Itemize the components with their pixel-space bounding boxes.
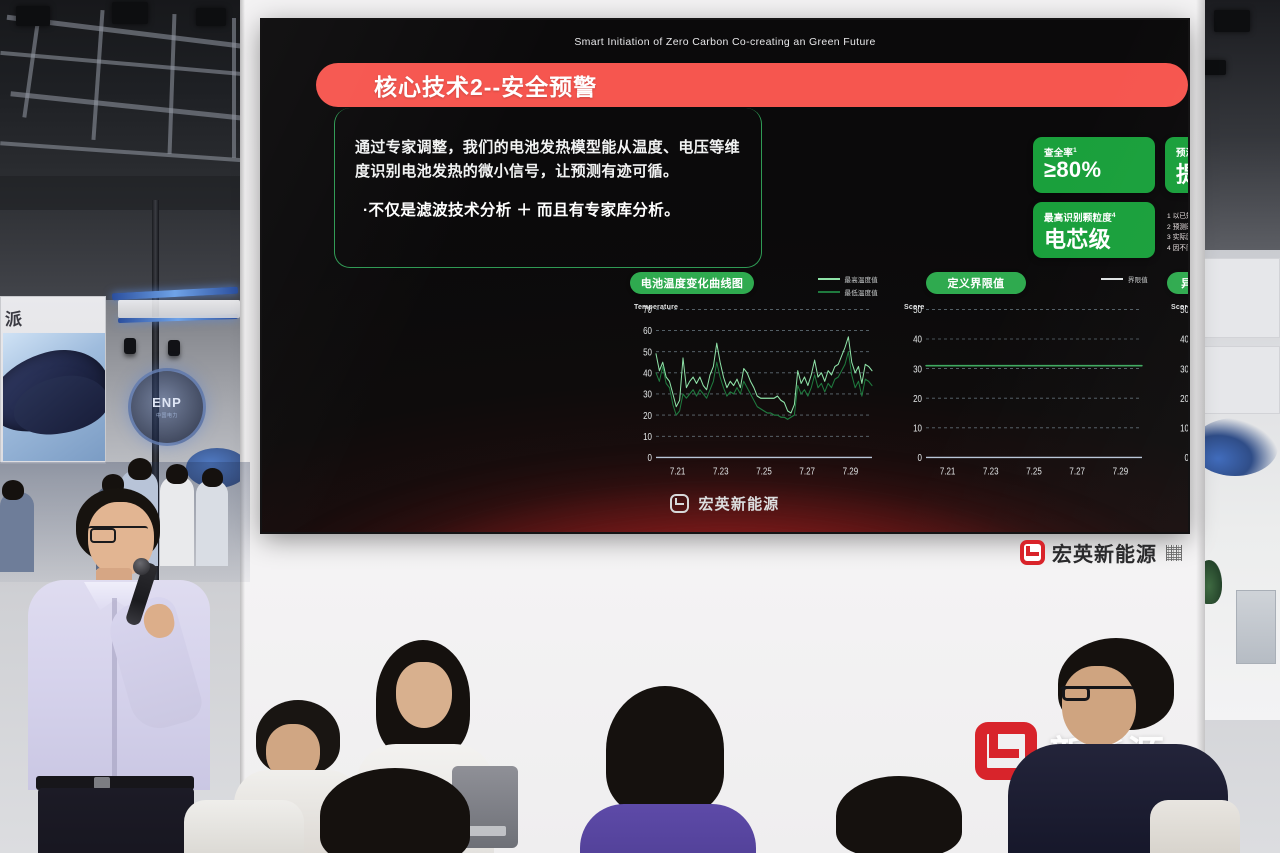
chart-panel-threshold: 定义界限值 界限值 Score 010203040507.217.237.257…: [900, 272, 1148, 487]
svg-text:30: 30: [1180, 364, 1188, 375]
svg-text:50: 50: [913, 304, 922, 315]
svg-text:40: 40: [1180, 334, 1188, 345]
exhibition-photo-scene: 派 ENP 中国电力 Smart Initiation of Zero Carb…: [0, 0, 1280, 853]
audience-hair: [320, 768, 470, 853]
slide-body-paragraph: 通过专家调整，我们的电池发热模型能从温度、电压等维度识别电池发热的微小信号，让预…: [355, 136, 749, 184]
footnote-4: 4 因不同电池包制造规格和数据质量而有不同。: [1167, 244, 1188, 255]
svg-text:7.25: 7.25: [1026, 466, 1042, 477]
legend-swatch: [818, 278, 840, 280]
audience-member: [1150, 800, 1240, 853]
chart-panel-anomaly: 异常识别预测图 界限值 Score 01020304050: [1167, 272, 1188, 487]
chart-legend-temperature: 最高温度值 最低温度值: [818, 274, 879, 297]
slide-body-bullet: ·不仅是滤波技术分析 ＋ 而且有专家库分析。: [363, 200, 755, 222]
qr-code-icon: [1166, 545, 1182, 561]
glasses-icon: [88, 526, 148, 537]
svg-text:60: 60: [643, 325, 652, 336]
right-booth-panel: [1196, 258, 1280, 338]
legend-label: 界限值: [1128, 274, 1148, 284]
svg-text:10: 10: [1180, 423, 1188, 434]
chart-title-anomaly: 异常识别预测图: [1167, 272, 1188, 294]
left-booth-display: [3, 333, 105, 461]
svg-text:7.27: 7.27: [799, 466, 815, 477]
truss-strut: [232, 18, 236, 158]
glasses-lens-icon: [1062, 686, 1090, 701]
svg-text:50: 50: [643, 347, 652, 358]
chart-legend-threshold: 界限值: [1101, 274, 1148, 284]
stat-card-value: 提前7天: [1176, 157, 1188, 189]
background-person-head: [166, 464, 188, 484]
svg-text:0: 0: [918, 452, 922, 463]
stage-light: [16, 6, 50, 26]
stat-card-value: 电芯级: [1044, 222, 1111, 254]
legend-swatch: [818, 291, 840, 293]
presenter: [24, 488, 210, 853]
hongying-logo-icon: [1020, 540, 1045, 565]
chart-title-temperature: 电池温度变化曲线图: [630, 272, 754, 294]
svg-text:7.25: 7.25: [756, 466, 772, 477]
legend-label: 最高温度值: [845, 274, 879, 284]
audience-face: [396, 662, 452, 728]
svg-text:10: 10: [643, 431, 652, 442]
svg-text:0: 0: [648, 452, 652, 463]
stage-light: [112, 2, 148, 24]
legend-label: 最低温度值: [845, 287, 879, 297]
wall-brand-logo: 宏英新能源: [1020, 538, 1182, 567]
booth-shelf: [118, 300, 240, 318]
presenter-trousers: [38, 788, 194, 853]
truss-shadow: [0, 176, 260, 210]
wall-brand-name: 宏英新能源: [1052, 538, 1157, 567]
stat-card-granularity: 最高识别颗粒度4 电芯级: [1033, 202, 1155, 258]
slide-subheadline: Smart Initiation of Zero Carbon Co-creat…: [262, 36, 1188, 48]
svg-text:30: 30: [913, 364, 922, 375]
slide-description-box: 通过专家调整，我们的电池发热模型能从温度、电压等维度识别电池发热的微小信号，让预…: [334, 108, 762, 268]
hongying-logo-icon: [670, 494, 689, 513]
svg-text:7.29: 7.29: [1113, 466, 1129, 477]
slide-title-text: 核心技术2--安全预警: [374, 68, 597, 102]
left-booth-panel: 派: [0, 296, 106, 464]
spotlight: [124, 338, 136, 354]
chart-panel-temperature: 电池温度变化曲线图 最高温度值 最低温度值 Temperature 010203…: [630, 272, 878, 487]
slide-brand-logo: 宏英新能源: [262, 493, 1188, 514]
chart-plot-temperature: 0102030405060707.217.237.257.277.29: [630, 302, 878, 487]
wall-edge-right: [1196, 0, 1205, 853]
slide-title-banner: 核心技术2--安全预警: [316, 63, 1188, 107]
svg-text:10: 10: [913, 423, 922, 434]
svg-text:70: 70: [643, 304, 652, 315]
footnote-1: 1 以已知的故障类型为基础，实际因场景和电池材料不同有区别 。: [1167, 212, 1188, 223]
svg-text:30: 30: [643, 389, 652, 400]
right-booth-panel: [1196, 346, 1280, 414]
stat-card-prediction-time: 预测时间2 提前7天: [1165, 137, 1188, 193]
chart-title-threshold: 定义界限值: [926, 272, 1026, 294]
enp-logo-subtext: 中国电力: [156, 412, 178, 419]
enp-logo-icon: ENP 中国电力: [128, 368, 206, 446]
svg-text:40: 40: [913, 334, 922, 345]
audience-hair: [836, 776, 962, 853]
background-person-head: [2, 480, 24, 500]
svg-text:40: 40: [643, 368, 652, 379]
stage-light: [1214, 10, 1250, 32]
svg-text:7.29: 7.29: [843, 466, 859, 477]
chart-plot-threshold: 010203040507.217.237.257.277.29: [900, 302, 1148, 487]
svg-text:50: 50: [1180, 304, 1188, 315]
stage-light: [196, 8, 226, 26]
svg-text:20: 20: [913, 393, 922, 404]
right-booth-cabinet: [1236, 590, 1276, 664]
wall-edge-left: [240, 0, 245, 853]
footnote-3: 3 实际因每块电池的使用场景不同而有差异。: [1167, 233, 1188, 244]
audience-top: [580, 804, 756, 853]
svg-text:20: 20: [643, 410, 652, 421]
svg-text:7.21: 7.21: [670, 466, 686, 477]
footnote-2: 2 预测时间范围可依据需求调整，以实际结果为准。: [1167, 223, 1188, 234]
slide-footnotes: 1 以已知的故障类型为基础，实际因场景和电池材料不同有区别 。 2 预测时间范围…: [1167, 212, 1188, 254]
svg-text:20: 20: [1180, 393, 1188, 404]
enp-logo-text: ENP: [152, 395, 182, 410]
left-booth-brand: 派: [5, 305, 22, 330]
handbag-label: [464, 826, 506, 836]
slide-canvas: Smart Initiation of Zero Carbon Co-creat…: [262, 20, 1188, 532]
background-person-head: [128, 458, 152, 480]
presentation-screen: Smart Initiation of Zero Carbon Co-creat…: [262, 20, 1188, 532]
stat-card-value: ≥80%: [1044, 157, 1101, 183]
svg-text:7.21: 7.21: [940, 466, 956, 477]
svg-text:7.23: 7.23: [713, 466, 729, 477]
audience-member: [184, 800, 304, 853]
audience-face: [1062, 666, 1136, 746]
svg-text:7.23: 7.23: [983, 466, 999, 477]
svg-text:7.27: 7.27: [1069, 466, 1085, 477]
svg-text:0: 0: [1185, 452, 1188, 463]
stat-card-recall: 查全率1 ≥80%: [1033, 137, 1155, 193]
legend-swatch: [1101, 278, 1123, 280]
slide-brand-name: 宏英新能源: [698, 493, 779, 514]
spotlight: [168, 340, 180, 356]
audience-hair: [606, 686, 724, 814]
chart-plot-anomaly: 01020304050: [1167, 302, 1188, 487]
background-person-head: [202, 468, 223, 487]
